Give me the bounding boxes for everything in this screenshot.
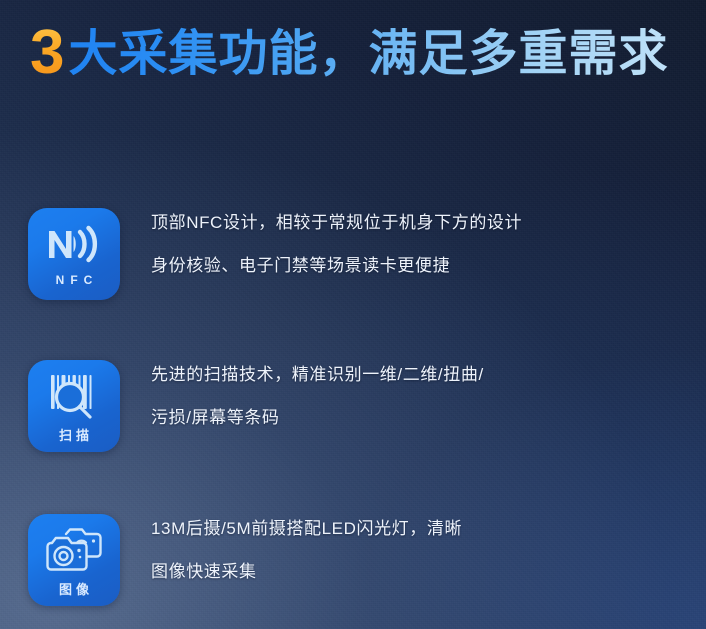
feature-description: 顶部NFC设计，相较于常规位于机身下方的设计 身份核验、电子门禁等场景读卡更便捷 [151, 208, 522, 274]
feature-row: 图像 13M后摄/5M前摄搭配LED闪光灯，清晰 图像快速采集 [28, 514, 462, 606]
feature-description-line: 顶部NFC设计，相较于常规位于机身下方的设计 [151, 214, 522, 231]
feature-icon-caption: 图像 [55, 583, 93, 596]
feature-icon-caption: NFC [50, 274, 99, 286]
feature-description-line: 身份核验、电子门禁等场景读卡更便捷 [151, 257, 522, 274]
feature-icon-tile-scan[interactable]: 扫描 [28, 360, 120, 452]
feature-description-line: 13M后摄/5M前摄搭配LED闪光灯，清晰 [151, 520, 462, 537]
feature-description-line: 先进的扫描技术，精准识别一维/二维/扭曲/ [151, 366, 484, 383]
feature-description-line: 图像快速采集 [151, 563, 462, 580]
barcode-scan-icon [45, 373, 103, 424]
page-title: 3大采集功能，满足多重需求 [30, 22, 669, 84]
feature-icon-caption: 扫描 [55, 429, 93, 442]
feature-row: 扫描 先进的扫描技术，精准识别一维/二维/扭曲/ 污损/屏幕等条码 [28, 360, 484, 452]
feature-description: 先进的扫描技术，精准识别一维/二维/扭曲/ 污损/屏幕等条码 [151, 360, 484, 426]
feature-icon-tile-image[interactable]: 图像 [28, 514, 120, 606]
title-number: 3 [30, 18, 64, 87]
feature-row: NFC 顶部NFC设计，相较于常规位于机身下方的设计 身份核验、电子门禁等场景读… [28, 208, 522, 300]
feature-description: 13M后摄/5M前摄搭配LED闪光灯，清晰 图像快速采集 [151, 514, 462, 580]
feature-description-line: 污损/屏幕等条码 [151, 409, 484, 426]
feature-icon-tile-nfc[interactable]: NFC [28, 208, 120, 300]
title-text: 大采集功能，满足多重需求 [68, 27, 668, 81]
camera-icon [44, 527, 104, 578]
promo-page: 3大采集功能，满足多重需求 NFC 顶部NFC设计，相较于常规位于机身下方的设计… [0, 0, 706, 629]
nfc-icon [43, 224, 105, 269]
